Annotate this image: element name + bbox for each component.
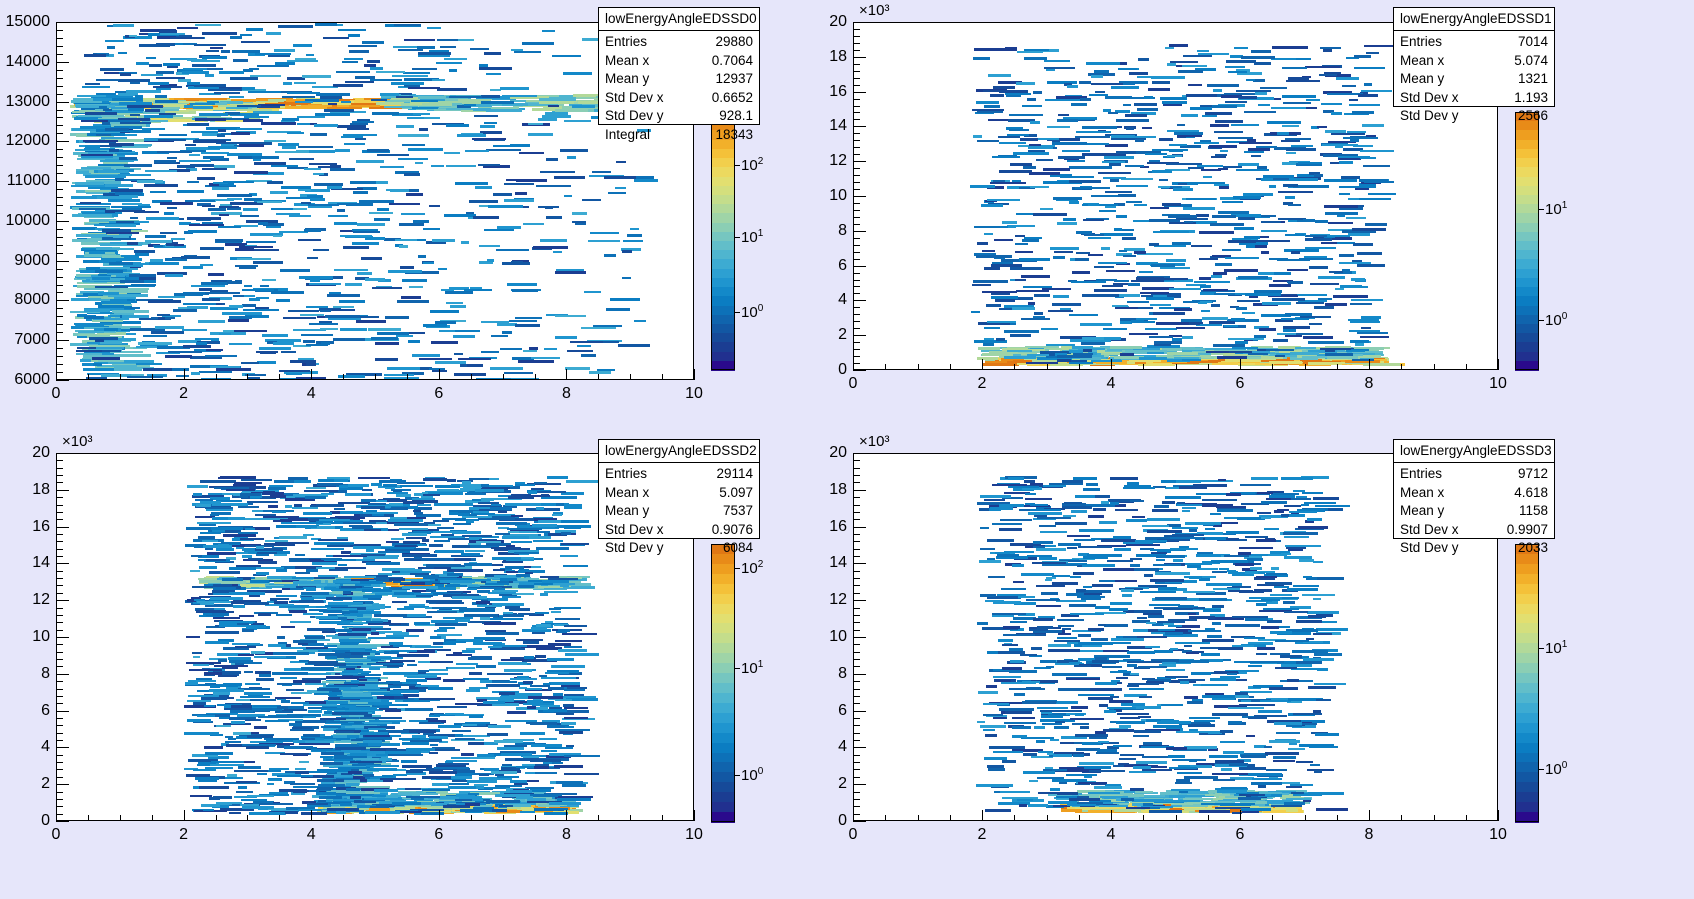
- palette-tick-base: 10: [1545, 201, 1562, 218]
- heatmap-bin: [1145, 153, 1168, 156]
- heatmap-bin: [102, 350, 121, 353]
- heatmap-bin: [376, 71, 406, 74]
- heatmap-bin: [461, 591, 471, 594]
- heatmap-bin: [417, 504, 431, 507]
- heatmap-bin: [438, 268, 446, 271]
- heatmap-bin: [282, 118, 299, 121]
- heatmap-bin: [423, 262, 434, 265]
- heatmap-bin: [1324, 179, 1358, 182]
- heatmap-bin: [1103, 328, 1127, 331]
- stats-row: Mean x0.7064: [605, 52, 753, 71]
- y-axis-label: 15000: [6, 13, 51, 31]
- heatmap-bin: [109, 210, 144, 213]
- heatmap-bin: [404, 39, 435, 42]
- y-axis-label: 18: [829, 48, 847, 66]
- heatmap-bin: [394, 24, 421, 27]
- heatmap-bin: [1361, 90, 1393, 93]
- heatmap-bin: [1046, 344, 1075, 347]
- heatmap-bin: [1211, 156, 1226, 159]
- heatmap-bin: [1191, 245, 1212, 248]
- x-axis-minor-tick: [1176, 364, 1177, 370]
- heatmap-bin: [514, 51, 542, 54]
- heatmap-bin: [458, 358, 491, 361]
- heatmap-bin: [491, 335, 508, 338]
- heatmap-bin: [982, 291, 1017, 294]
- heatmap-bin: [1081, 342, 1105, 345]
- heatmap-bin: [1091, 83, 1123, 86]
- heatmap-bin: [1300, 316, 1331, 319]
- heatmap-bin: [1086, 62, 1120, 65]
- heatmap-bin: [1183, 55, 1212, 58]
- heatmap-bin: [270, 191, 288, 194]
- heatmap-bin: [1144, 96, 1153, 99]
- heatmap-bin: [1203, 176, 1211, 179]
- heatmap-bin: [1013, 152, 1049, 155]
- x-axis-label: 6: [434, 385, 443, 403]
- heatmap-bin: [310, 133, 328, 136]
- y-axis-minor-tick: [853, 112, 860, 113]
- heatmap-bin: [431, 165, 444, 168]
- heatmap-bin: [155, 95, 167, 98]
- heatmap-bin: [250, 75, 281, 78]
- heatmap-bin: [137, 180, 163, 183]
- heatmap-bin: [1365, 223, 1387, 226]
- heatmap-bin: [1244, 236, 1260, 239]
- heatmap-bin: [352, 121, 374, 124]
- heatmap-bin: [1339, 161, 1353, 164]
- heatmap-bin: [1183, 207, 1216, 210]
- heatmap-bin: [323, 37, 349, 40]
- heatmap-bin: [476, 665, 496, 668]
- heatmap-bin: [273, 235, 282, 238]
- heatmap-bin: [627, 234, 642, 237]
- heatmap-bin: [314, 124, 338, 127]
- heatmap-bin: [484, 52, 501, 55]
- heatmap-bin: [1222, 249, 1241, 252]
- heatmap-bin: [338, 29, 366, 32]
- heatmap-bin: [439, 330, 455, 333]
- heatmap-bin: [538, 118, 557, 121]
- heatmap-bin: [1069, 180, 1101, 183]
- heatmap-bin: [298, 358, 314, 361]
- heatmap-bin: [424, 117, 440, 120]
- heatmap-bin: [80, 359, 92, 362]
- heatmap-bin: [310, 279, 321, 282]
- root-canvas: 6000700080009000100001100012000130001400…: [0, 0, 1694, 899]
- heatmap-bin: [1012, 307, 1035, 310]
- heatmap-bin: [144, 184, 179, 187]
- heatmap-bin: [329, 292, 341, 295]
- heatmap-bin: [542, 30, 555, 33]
- heatmap-bin: [634, 320, 646, 323]
- heatmap-bin: [1146, 297, 1175, 300]
- heatmap-bin: [1134, 251, 1146, 254]
- heatmap-bin: [243, 119, 263, 122]
- y-axis-tick: [853, 231, 866, 232]
- x-axis-tick: [1498, 359, 1499, 370]
- stats-row: Std Dev x0.6652: [605, 89, 753, 108]
- heatmap-bin: [1321, 242, 1337, 245]
- heatmap-bin: [223, 181, 254, 184]
- heatmap-bin: [486, 149, 521, 152]
- y-axis-minor-tick: [853, 168, 860, 169]
- x-axis-minor-tick: [662, 374, 663, 380]
- heatmap-bin: [196, 342, 207, 345]
- heatmap-bin: [262, 279, 277, 282]
- heatmap-bin: [127, 242, 139, 245]
- heatmap-bin: [234, 330, 267, 333]
- heatmap-bin: [470, 48, 490, 51]
- heatmap-bin: [1034, 312, 1043, 315]
- x-axis-label: 0: [849, 375, 858, 393]
- heatmap-bin: [616, 161, 626, 164]
- heatmap-bin: [430, 310, 459, 313]
- heatmap-bin: [388, 754, 423, 757]
- heatmap-bin: [1229, 351, 1252, 354]
- heatmap-bin: [208, 273, 224, 276]
- heatmap-bin: [1139, 271, 1153, 274]
- heatmap-bin: [332, 309, 355, 312]
- heatmap-bin: [1126, 127, 1134, 130]
- heatmap-bin: [1087, 166, 1112, 169]
- pad-panel-0[interactable]: 6000700080009000100001100012000130001400…: [0, 0, 780, 418]
- heatmap-bin: [304, 229, 321, 232]
- y-axis-minor-tick: [853, 154, 860, 155]
- heatmap-bin: [289, 158, 314, 161]
- y-axis-minor-tick: [56, 165, 63, 166]
- heatmap-bin: [95, 286, 128, 289]
- heatmap-bin: [981, 204, 1003, 207]
- heatmap-bin: [127, 105, 163, 108]
- heatmap-bin: [1238, 163, 1258, 166]
- heatmap-bin: [1168, 215, 1197, 218]
- y-axis-minor-tick: [853, 252, 860, 253]
- heatmap-bin: [1339, 262, 1371, 265]
- pad-panel-2[interactable]: 02468101214161820×10³0246810 102101100 l…: [0, 434, 780, 899]
- heatmap-bin: [1127, 301, 1149, 304]
- heatmap-bin: [1266, 349, 1294, 352]
- heatmap-bin: [1000, 226, 1008, 229]
- heatmap-bin: [1350, 139, 1359, 142]
- heatmap-bin: [1295, 58, 1310, 61]
- heatmap-bin: [335, 149, 350, 152]
- heatmap-bin: [357, 223, 385, 226]
- heatmap-bin: [999, 142, 1026, 145]
- heatmap-bin: [1080, 98, 1091, 101]
- heatmap-bin: [634, 179, 658, 182]
- stats-box-1[interactable]: lowEnergyAngleEDSSD1 Entries7014Mean x5.…: [1393, 7, 1555, 107]
- heatmap-bin: [153, 245, 163, 248]
- y-axis-minor-tick: [56, 364, 63, 365]
- heatmap-bin: [1072, 271, 1090, 274]
- heatmap-bin: [1021, 275, 1050, 278]
- heatmap-bin: [1228, 240, 1257, 243]
- heatmap-bin: [191, 285, 225, 288]
- heatmap-bin: [464, 104, 476, 107]
- x-axis-minor-tick: [1272, 364, 1273, 370]
- heatmap-bin: [396, 96, 412, 99]
- heatmap-bin: [1129, 360, 1161, 363]
- heatmap-bin: [449, 96, 482, 99]
- heatmap-bin: [278, 25, 313, 28]
- heatmap-bin: [1082, 126, 1117, 129]
- stats-row-key: Std Dev y: [1400, 107, 1477, 126]
- heatmap-bin: [1337, 215, 1345, 218]
- heatmap-bin: [255, 53, 290, 56]
- heatmap-bin: [554, 765, 583, 768]
- heatmap-bin: [1364, 181, 1394, 184]
- heatmap-bin: [362, 41, 384, 44]
- palette-tick: [735, 312, 740, 313]
- y-axis-label: 14: [829, 117, 847, 135]
- y-axis-minor-tick: [853, 71, 860, 72]
- x-axis-minor-tick: [1466, 364, 1467, 370]
- heatmap-bin: [390, 189, 409, 192]
- heatmap-bin: [305, 683, 326, 686]
- heatmap-bin: [1153, 312, 1185, 315]
- color-palette-1[interactable]: 101100: [1515, 112, 1539, 370]
- x-axis-minor-tick: [375, 374, 376, 380]
- heatmap-bin: [411, 100, 439, 103]
- heatmap-bin: [399, 223, 425, 226]
- heatmap-bin: [504, 183, 534, 186]
- heatmap-bin: [1067, 160, 1085, 163]
- heatmap-bin: [546, 216, 562, 219]
- heatmap-bin: [1284, 249, 1320, 252]
- heatmap-bin: [1309, 323, 1322, 326]
- heatmap-bin: [1246, 79, 1255, 82]
- heatmap-bin: [287, 92, 320, 95]
- heatmap-bin: [1237, 300, 1260, 303]
- stats-row-value: 1321: [1518, 70, 1548, 89]
- heatmap-bin: [310, 198, 325, 201]
- pad-panel-1[interactable]: 02468101214161820×10³0246810 101100 lowE…: [847, 0, 1694, 418]
- y-axis-tick: [853, 57, 866, 58]
- heatmap-bin: [115, 178, 125, 181]
- heatmap-bin: [1212, 215, 1236, 218]
- heatmap-bin: [214, 92, 240, 95]
- heatmap-bin: [280, 269, 310, 272]
- stats-row-key: Std Dev x: [605, 89, 682, 108]
- heatmap-bin: [555, 640, 582, 643]
- heatmap-bin: [208, 146, 236, 149]
- heatmap-bin: [257, 201, 282, 204]
- heatmap-bin: [1118, 194, 1136, 197]
- heatmap-bin: [1162, 101, 1187, 104]
- heatmap-bin: [340, 328, 367, 331]
- heatmap-bin: [1359, 198, 1391, 201]
- heatmap-bin: [276, 299, 289, 302]
- heatmap-bin: [1235, 341, 1249, 344]
- heatmap-bin: [138, 342, 172, 345]
- heatmap-bin: [399, 245, 409, 248]
- heatmap-bin: [566, 745, 574, 748]
- heatmap-bin: [279, 370, 310, 373]
- x-axis-minor-tick: [503, 374, 504, 380]
- heatmap-bin: [540, 171, 576, 174]
- heatmap-bin: [465, 150, 489, 153]
- heatmap-bin: [1138, 58, 1149, 61]
- heatmap-bin: [1015, 251, 1033, 254]
- heatmap-bin: [454, 353, 463, 356]
- heatmap-bin: [356, 160, 384, 163]
- heatmap-bin: [283, 317, 316, 320]
- heatmap-bin: [1099, 210, 1117, 213]
- heatmap-bin: [271, 165, 299, 168]
- heatmap-bin: [309, 163, 337, 166]
- heatmap-bin: [1200, 285, 1212, 288]
- heatmap-bin: [206, 349, 223, 352]
- y-axis-tick: [853, 335, 866, 336]
- heatmap-bin: [218, 129, 227, 132]
- palette-tick-exponent: 0: [758, 303, 764, 314]
- heatmap-bin: [320, 762, 343, 765]
- y-axis-minor-tick: [56, 110, 63, 111]
- heatmap-bin: [370, 67, 383, 70]
- heatmap-bin: [377, 208, 390, 211]
- y-axis-tick: [56, 380, 69, 381]
- y-axis-minor-tick: [56, 38, 63, 39]
- heatmap-bin: [158, 139, 186, 142]
- y-axis-minor-tick: [56, 173, 63, 174]
- heatmap-bin: [1119, 294, 1140, 297]
- heatmap-bin: [321, 752, 344, 755]
- heatmap-bin: [337, 209, 345, 212]
- heatmap-bin: [1045, 99, 1081, 102]
- heatmap-bin: [473, 216, 499, 219]
- heatmap-bin: [1177, 135, 1202, 138]
- heatmap-bin: [368, 702, 392, 705]
- heatmap-bin: [1095, 91, 1105, 94]
- heatmap-bin: [98, 170, 129, 173]
- heatmap-bin: [200, 264, 212, 267]
- heatmap-bin: [590, 232, 619, 235]
- heatmap-bin: [372, 112, 399, 115]
- heatmap-bin: [344, 143, 365, 146]
- heatmap-bin: [432, 239, 455, 242]
- heatmap-bin: [1088, 254, 1103, 257]
- heatmap-bin: [333, 338, 366, 341]
- x-axis-minor-tick: [247, 374, 248, 380]
- heatmap-bin: [1218, 137, 1253, 140]
- heatmap-bin: [82, 86, 110, 89]
- heatmap-bin: [350, 753, 367, 756]
- heatmap-bin: [1368, 193, 1397, 196]
- heatmap-bin: [1174, 308, 1192, 311]
- y-axis-minor-tick: [853, 293, 860, 294]
- heatmap-bin: [1047, 126, 1070, 129]
- heatmap-bin: [562, 784, 586, 787]
- heatmap-bin: [486, 73, 501, 76]
- heatmap-bin: [307, 628, 335, 631]
- heatmap-bin: [219, 71, 244, 74]
- heatmap-bin: [1057, 222, 1077, 225]
- x-axis-minor-tick: [1208, 364, 1209, 370]
- heatmap-bin: [182, 71, 209, 74]
- heatmap-bin: [1285, 138, 1311, 141]
- heatmap-bin: [98, 360, 124, 363]
- y-axis-minor-tick: [853, 203, 860, 204]
- heatmap-bin: [95, 339, 104, 342]
- heatmap-bin: [1057, 359, 1070, 362]
- heatmap-bin: [1184, 221, 1194, 224]
- heatmap-bin: [1167, 155, 1182, 158]
- heatmap-bin: [155, 326, 185, 329]
- x-axis-minor-tick: [1079, 364, 1080, 370]
- heatmap-bin: [148, 82, 169, 85]
- x-axis-label: 2: [179, 385, 188, 403]
- heatmap-bin: [75, 182, 105, 185]
- heatmap-bin: [252, 156, 279, 159]
- heatmap-bin: [622, 250, 632, 253]
- heatmap-bin: [234, 171, 268, 174]
- heatmap-bin: [415, 162, 423, 165]
- heatmap-bin: [1212, 255, 1231, 258]
- heatmap-bin: [219, 206, 239, 209]
- heatmap-bin: [278, 143, 299, 146]
- heatmap-bin: [504, 372, 533, 375]
- heatmap-bin: [1075, 187, 1110, 190]
- y-axis-label: 13000: [6, 93, 51, 111]
- heatmap-bin: [987, 199, 1020, 202]
- heatmap-bin: [1034, 294, 1050, 297]
- heatmap-bin: [502, 262, 529, 265]
- heatmap-bin: [1333, 295, 1368, 298]
- heatmap-bin: [972, 284, 991, 287]
- heatmap-bin: [217, 194, 252, 197]
- heatmap-bin: [120, 73, 131, 76]
- heatmap-bin: [1228, 338, 1264, 341]
- heatmap-bin: [1009, 114, 1043, 117]
- x-axis-minor-tick: [918, 364, 919, 370]
- heatmap-bin: [218, 226, 241, 229]
- heatmap-bin: [201, 282, 227, 285]
- stats-box-0[interactable]: lowEnergyAngleEDSSD0 Entries29880Mean x0…: [598, 7, 760, 125]
- heatmap-bin: [491, 504, 501, 507]
- heatmap-bin: [321, 342, 331, 345]
- heatmap-bin: [244, 285, 252, 288]
- stats-row: Std Dev y928.1: [605, 107, 753, 126]
- heatmap-bin: [417, 239, 426, 242]
- heatmap-bin: [1258, 272, 1274, 275]
- heatmap-bin: [1308, 341, 1344, 344]
- heatmap-bin: [357, 272, 372, 275]
- y-axis-minor-tick: [56, 197, 63, 198]
- heatmap-bin: [1351, 278, 1365, 281]
- heatmap-bin: [259, 347, 292, 350]
- x-axis-minor-tick: [885, 364, 886, 370]
- heatmap-bin: [1199, 231, 1235, 234]
- heatmap-bin: [516, 179, 546, 182]
- heatmap-bin: [256, 351, 278, 354]
- heatmap-bin: [1196, 214, 1210, 217]
- heatmap-bin: [1364, 83, 1372, 86]
- heatmap-bin: [469, 200, 498, 203]
- heatmap-bin: [1129, 72, 1148, 75]
- y-axis-minor-tick: [853, 342, 860, 343]
- heatmap-bin: [404, 85, 420, 88]
- x-axis-label: 8: [1365, 375, 1374, 393]
- color-palette-0[interactable]: 102101100: [711, 112, 735, 370]
- heatmap-bin: [1228, 71, 1248, 74]
- heatmap-bin: [1249, 296, 1259, 299]
- heatmap-bin: [1134, 204, 1147, 207]
- heatmap-bin: [1198, 302, 1207, 305]
- heatmap-bin: [101, 301, 131, 304]
- heatmap-bin: [1131, 280, 1164, 283]
- y-axis-minor-tick: [853, 286, 860, 287]
- heatmap-bin: [487, 733, 508, 736]
